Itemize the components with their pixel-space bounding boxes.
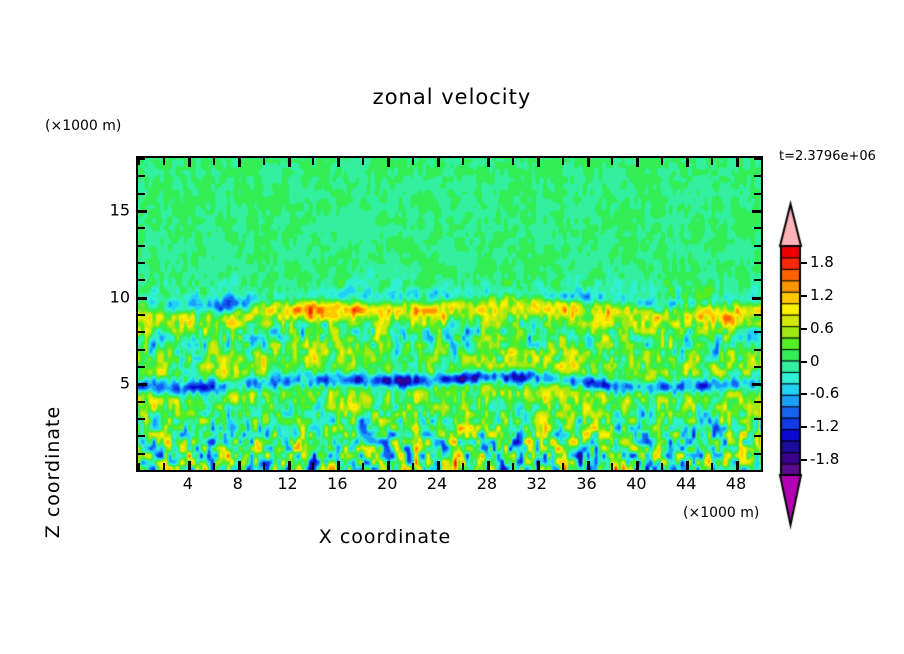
colorbar-tick: [801, 295, 807, 297]
x-tick-label: 44: [676, 474, 696, 493]
y-tick: [754, 470, 761, 472]
x-tick: [412, 463, 414, 470]
x-tick: [362, 463, 364, 470]
colorbar-tick: [801, 393, 807, 395]
y-tick: [138, 314, 145, 316]
y-tick: [138, 210, 147, 213]
y-axis-title: Z coordinate: [42, 406, 64, 538]
x-tick: [337, 158, 340, 167]
x-tick-label: 20: [377, 474, 397, 493]
y-tick-label: 5: [120, 374, 130, 393]
y-axis-units-label: (×1000 m): [45, 118, 121, 134]
y-tick: [138, 401, 145, 403]
velocity-field-heatmap: [138, 158, 761, 470]
x-tick: [736, 158, 739, 167]
y-tick: [138, 435, 145, 437]
x-tick: [512, 463, 514, 470]
x-tick: [686, 158, 689, 167]
colorbar-tick: [801, 262, 807, 264]
colorbar-tick: [801, 459, 807, 461]
y-tick: [754, 314, 761, 316]
y-tick: [754, 401, 761, 403]
x-tick: [611, 463, 613, 470]
y-tick: [754, 175, 761, 177]
x-tick: [611, 158, 613, 165]
x-tick: [661, 158, 663, 165]
x-tick: [263, 158, 265, 165]
x-tick: [138, 463, 140, 470]
colorbar-tick: [801, 426, 807, 428]
x-tick: [213, 158, 215, 165]
y-tick: [138, 262, 145, 264]
y-tick: [754, 245, 761, 247]
y-tick: [754, 453, 761, 455]
x-tick: [163, 463, 165, 470]
x-tick: [288, 158, 291, 167]
x-tick-label: 40: [626, 474, 646, 493]
x-tick: [462, 158, 464, 165]
x-tick: [711, 463, 713, 470]
x-tick: [587, 461, 590, 470]
y-tick: [754, 349, 761, 351]
colorbar: 1.81.20.60-0.6-1.2-1.8: [776, 200, 904, 530]
y-tick: [752, 210, 761, 213]
x-tick-label: 12: [277, 474, 297, 493]
x-tick: [337, 461, 340, 470]
x-tick-label: 28: [477, 474, 497, 493]
y-tick: [138, 158, 145, 160]
y-tick: [138, 227, 145, 229]
x-tick: [537, 158, 540, 167]
x-tick: [487, 158, 490, 167]
y-tick: [754, 227, 761, 229]
colorbar-tick: [801, 328, 807, 330]
y-tick: [138, 366, 145, 368]
x-axis-title: X coordinate: [0, 526, 770, 548]
x-tick: [412, 158, 414, 165]
y-tick: [138, 470, 145, 472]
x-tick-label: 16: [327, 474, 347, 493]
x-tick: [437, 461, 440, 470]
x-tick-label: 36: [576, 474, 596, 493]
x-tick: [761, 158, 763, 165]
x-tick: [238, 158, 241, 167]
x-tick: [288, 461, 291, 470]
y-tick: [752, 383, 761, 386]
x-tick-label: 8: [233, 474, 243, 493]
x-tick: [312, 158, 314, 165]
y-tick: [754, 366, 761, 368]
page-title: zonal velocity: [0, 85, 904, 109]
y-tick: [138, 175, 145, 177]
y-tick: [138, 349, 145, 351]
x-tick: [636, 158, 639, 167]
y-tick: [752, 297, 761, 300]
x-tick: [263, 463, 265, 470]
x-tick: [387, 461, 390, 470]
colorbar-tick-label: -0.6: [810, 384, 839, 402]
x-tick: [562, 158, 564, 165]
plot-area: 4812162024283236404448 51015: [136, 156, 763, 472]
x-tick: [188, 158, 191, 167]
x-tick: [487, 461, 490, 470]
x-tick: [711, 158, 713, 165]
x-tick: [312, 463, 314, 470]
x-tick: [213, 463, 215, 470]
y-tick: [138, 453, 145, 455]
x-tick: [736, 461, 739, 470]
y-tick: [138, 245, 145, 247]
y-tick: [138, 279, 145, 281]
x-tick: [163, 158, 165, 165]
y-tick: [754, 158, 761, 160]
y-tick: [138, 193, 145, 195]
colorbar-tick-label: 1.8: [810, 253, 834, 271]
y-tick: [754, 418, 761, 420]
x-tick-label: 32: [527, 474, 547, 493]
colorbar-tick-label: 0.6: [810, 319, 834, 337]
y-tick: [754, 193, 761, 195]
y-tick: [138, 297, 147, 300]
y-tick: [754, 435, 761, 437]
x-tick: [437, 158, 440, 167]
x-axis-units-label: (×1000 m): [683, 505, 759, 521]
y-tick: [754, 262, 761, 264]
y-tick: [138, 331, 145, 333]
x-tick: [387, 158, 390, 167]
x-tick-label: 24: [427, 474, 447, 493]
x-tick-label: 4: [183, 474, 193, 493]
x-tick: [188, 461, 191, 470]
x-tick-label: 48: [726, 474, 746, 493]
y-tick-label: 15: [110, 201, 130, 220]
colorbar-tick-label: -1.8: [810, 450, 839, 468]
x-tick: [562, 463, 564, 470]
x-tick: [636, 461, 639, 470]
y-tick-label: 10: [110, 287, 130, 306]
x-tick: [661, 463, 663, 470]
x-tick: [462, 463, 464, 470]
y-tick: [138, 383, 147, 386]
x-tick: [362, 158, 364, 165]
x-tick: [686, 461, 689, 470]
x-tick: [587, 158, 590, 167]
y-tick: [754, 331, 761, 333]
x-tick: [761, 463, 763, 470]
y-tick: [754, 279, 761, 281]
x-tick: [238, 461, 241, 470]
y-tick: [138, 418, 145, 420]
x-tick: [512, 158, 514, 165]
colorbar-tick-label: 1.2: [810, 286, 834, 304]
x-tick: [537, 461, 540, 470]
timestamp-annotation: t=2.3796e+06: [779, 149, 876, 164]
colorbar-tick-label: -1.2: [810, 417, 839, 435]
colorbar-tick: [801, 361, 807, 363]
colorbar-tick-label: 0: [810, 352, 820, 370]
